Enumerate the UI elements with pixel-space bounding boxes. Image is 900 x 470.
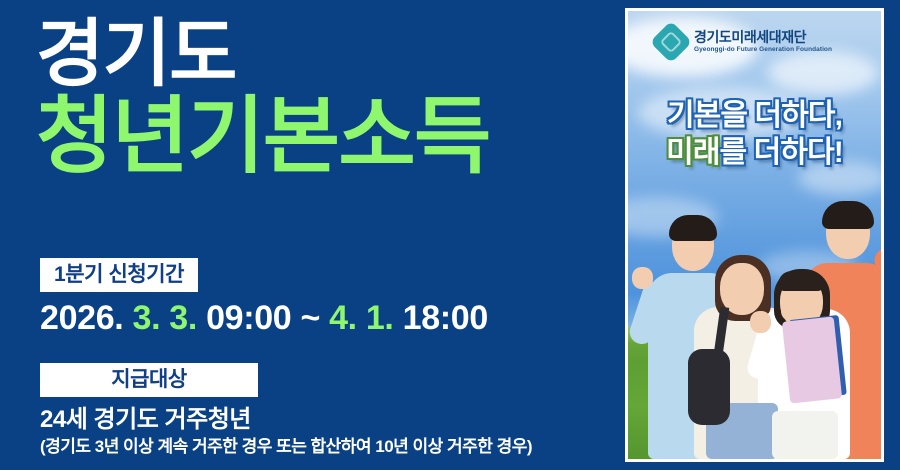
foundation-name-korean: 경기도미래세대재단 <box>694 30 832 44</box>
period-badge: 1분기 신청기간 <box>40 258 198 292</box>
backpack <box>688 349 730 425</box>
headline-line-program: 청년기본소득 <box>36 95 616 177</box>
slogan-line-1: 기본을 더하다, <box>628 99 881 134</box>
person-fist <box>750 311 771 333</box>
person-hair <box>822 201 874 229</box>
date-year: 2026. <box>40 299 123 337</box>
promo-banner: 경기도 청년기본소득 1분기 신청기간 2026. 3. 3. 09:00 ~ … <box>0 0 900 470</box>
person-fist <box>632 267 653 289</box>
notebooks <box>782 317 842 404</box>
application-period-block: 1분기 신청기간 2026. 3. 3. 09:00 ~ 4. 1. 18:00 <box>40 258 488 337</box>
end-month-day: 4. 1. <box>329 299 393 337</box>
start-time: 09:00 <box>206 299 291 337</box>
slogan-line-2: 미래를 더하다! <box>628 136 881 171</box>
cloud-shape <box>768 51 878 95</box>
foundation-logo-mark-icon <box>650 21 692 63</box>
start-month-day: 3. 3. <box>133 299 197 337</box>
eligibility-main-text: 24세 경기도 거주청년 <box>40 406 532 434</box>
people-photo-group <box>628 159 881 459</box>
person-legs <box>772 411 838 459</box>
slogan: 기본을 더하다, 미래를 더하다! <box>628 99 881 171</box>
page-title: 경기도 청년기본소득 <box>36 18 616 177</box>
foundation-logo: 경기도미래세대재단 Gyeonggi-do Future Generation … <box>656 27 832 57</box>
person-fist <box>781 299 802 321</box>
eligibility-badge: 지급대상 <box>40 363 258 397</box>
eligibility-note-text: (경기도 3년 이상 계속 거주한 경우 또는 합산하여 10년 이상 거주한 … <box>40 437 532 457</box>
person-bangs <box>778 271 824 291</box>
photo-panel: 경기도미래세대재단 Gyeonggi-do Future Generation … <box>625 8 884 462</box>
headline-line-region: 경기도 <box>36 18 616 91</box>
eligibility-block: 지급대상 24세 경기도 거주청년 (경기도 3년 이상 계속 거주한 경우 또… <box>40 363 532 457</box>
period-date-line: 2026. 3. 3. 09:00 ~ 4. 1. 18:00 <box>40 301 488 337</box>
left-content-column: 경기도 청년기본소득 1분기 신청기간 2026. 3. 3. 09:00 ~ … <box>0 0 620 470</box>
foundation-name-english: Gyeonggi-do Future Generation Foundation <box>694 47 832 54</box>
end-time: 18:00 <box>403 299 488 337</box>
date-separator: ~ <box>300 299 320 337</box>
foundation-logo-text: 경기도미래세대재단 Gyeonggi-do Future Generation … <box>694 30 832 54</box>
slogan-future-word: 미래 <box>666 136 719 169</box>
person-hair <box>669 215 717 241</box>
slogan-line-2-rest: 를 더하다! <box>720 136 843 169</box>
